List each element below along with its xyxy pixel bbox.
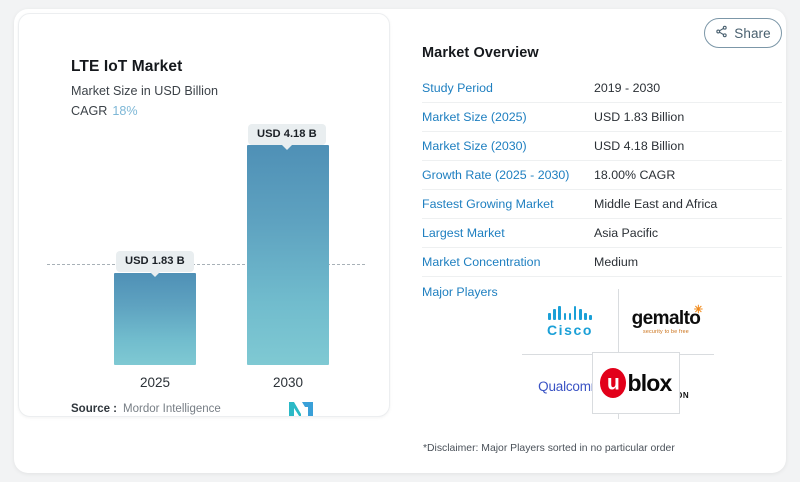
logo-cell-cisco: Cisco (522, 289, 618, 354)
bar-2025[interactable] (114, 273, 196, 365)
overview-row-market-concentration: Market Concentration Medium (422, 248, 782, 277)
share-label: Share (734, 26, 771, 41)
x-axis-tick-2025: 2025 (114, 375, 196, 390)
cisco-logo: Cisco (547, 306, 593, 338)
overview-row-growth-rate: Growth Rate (2025 - 2030) 18.00% CAGR (422, 161, 782, 190)
overview-label: Market Size (2025) (422, 110, 594, 124)
overview-value: 18.00% CAGR (594, 168, 675, 182)
disclaimer-text: *Disclaimer: Major Players sorted in no … (423, 443, 675, 454)
share-icon (715, 25, 728, 41)
overview-row-market-size-2025: Market Size (2025) USD 1.83 Billion (422, 103, 782, 132)
market-overview-panel: Market Overview Study Period 2019 - 2030… (422, 45, 782, 307)
gemalto-star-icon: ✳ (694, 303, 703, 316)
chart-card: LTE IoT Market Market Size in USD Billio… (18, 13, 390, 417)
overview-label: Market Size (2030) (422, 139, 594, 153)
ublox-logo: u blox (600, 368, 671, 398)
bar-label-2025: USD 1.83 B (116, 251, 194, 272)
cisco-wordmark: Cisco (547, 322, 593, 338)
bar-2030[interactable] (247, 145, 329, 365)
overview-value: Middle East and Africa (594, 197, 717, 211)
overview-row-market-size-2030: Market Size (2030) USD 4.18 Billion (422, 132, 782, 161)
source-label: Source : (71, 403, 117, 415)
screenshot-root: Share LTE IoT Market Market Size in USD … (0, 0, 800, 482)
source-row: Source : Mordor Intelligence (71, 403, 221, 415)
overview-value: Medium (594, 255, 638, 269)
share-button[interactable]: Share (704, 18, 782, 48)
overview-label: Growth Rate (2025 - 2030) (422, 168, 594, 182)
overview-label: Market Concentration (422, 255, 594, 269)
gemalto-wordmark: gemalto✳ (632, 308, 701, 330)
overview-label: Largest Market (422, 226, 594, 240)
bar-label-2030: USD 4.18 B (248, 124, 326, 145)
cisco-bars-icon (547, 306, 593, 320)
logo-cell-ublox: u blox (592, 352, 680, 414)
overview-row-largest-market: Largest Market Asia Pacific (422, 219, 782, 248)
gemalto-logo: gemalto✳ security to be free (632, 308, 701, 335)
ublox-dot-icon: u (600, 368, 626, 398)
overview-value: USD 1.83 Billion (594, 110, 684, 124)
source-value: Mordor Intelligence (123, 403, 221, 415)
major-players-logo-grid: Cisco gemalto✳ security to be free Qualc… (522, 289, 714, 419)
overview-value: 2019 - 2030 (594, 81, 660, 95)
overview-label: Fastest Growing Market (422, 197, 594, 211)
overview-value: Asia Pacific (594, 226, 658, 240)
logo-cell-gemalto: gemalto✳ security to be free (618, 289, 714, 354)
mordor-intelligence-logo (289, 402, 313, 417)
overview-value: USD 4.18 Billion (594, 139, 684, 153)
overview-row-study-period: Study Period 2019 - 2030 (422, 74, 782, 103)
ublox-wordmark: blox (627, 370, 671, 397)
x-axis-tick-2030: 2030 (247, 375, 329, 390)
bar-chart-plot: USD 4.18 B USD 1.83 B 2025 2030 (19, 14, 390, 417)
overview-row-fastest-growing-market: Fastest Growing Market Middle East and A… (422, 190, 782, 219)
overview-label: Study Period (422, 81, 594, 95)
